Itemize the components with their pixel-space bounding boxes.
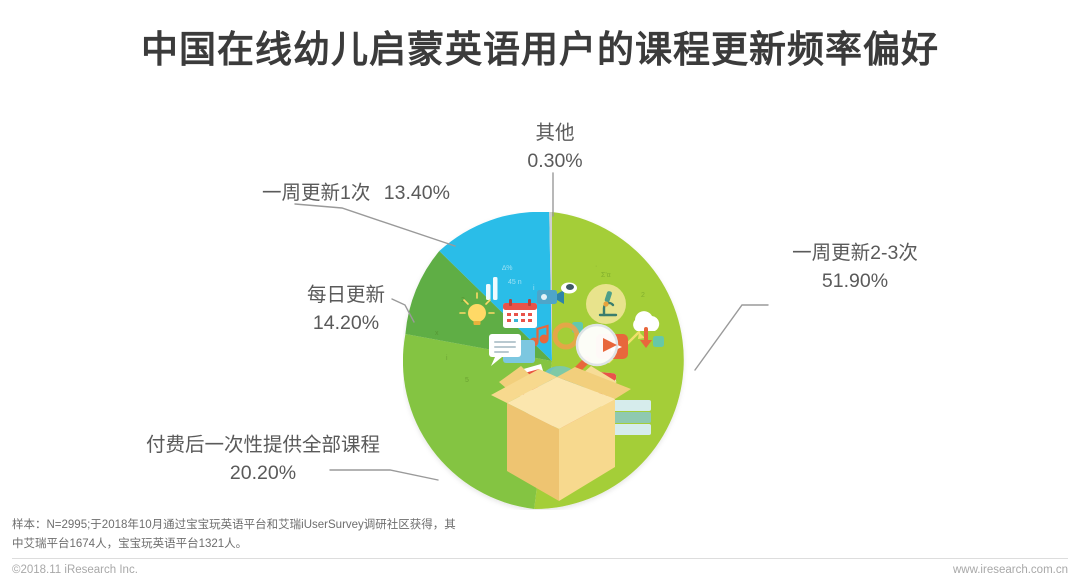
- footnote-line-1: 样本：N=2995;于2018年10月通过宝宝玩英语平台和艾瑞iUserSurv…: [12, 516, 612, 535]
- source-footnote: 样本：N=2995;于2018年10月通过宝宝玩英语平台和艾瑞iUserSurv…: [12, 516, 612, 553]
- leader-line-weekly23: [695, 305, 768, 370]
- callout-weekly1-value: 13.40%: [384, 182, 450, 204]
- callout-daily-value: 14.20%: [290, 310, 402, 338]
- callout-onetime: 付费后一次性提供全部课程 20.20%: [118, 432, 408, 487]
- callout-other-value: 0.30%: [500, 148, 610, 176]
- website-link[interactable]: www.iresearch.com.cn: [953, 564, 1068, 576]
- callout-other-category: 其他: [500, 120, 610, 148]
- title-bar: 中国在线幼儿启蒙英语用户的课程更新频率偏好: [0, 28, 1080, 72]
- callout-onetime-value: 20.20%: [118, 460, 408, 488]
- footer-divider: [12, 558, 1068, 559]
- footer-bar: ©2018.11 iResearch Inc. www.iresearch.co…: [12, 564, 1068, 576]
- pie-slice-weekly23[interactable]: [534, 212, 684, 509]
- page-title: 中国在线幼儿启蒙英语用户的课程更新频率偏好: [141, 28, 939, 72]
- callout-weekly23-value: 51.90%: [770, 268, 940, 296]
- callout-onetime-category: 付费后一次性提供全部课程: [118, 432, 408, 460]
- slide-canvas: 中国在线幼儿启蒙英语用户的课程更新频率偏好: [0, 0, 1080, 588]
- footnote-line-2: 中艾瑞平台1674人，宝宝玩英语平台1321人。: [12, 535, 612, 554]
- pie-slice-onetime[interactable]: [403, 334, 552, 509]
- pie-chart-svg: [403, 212, 701, 510]
- callout-weekly1-category: 一周更新1次: [262, 182, 370, 204]
- callout-weekly1: 一周更新1次 13.40%: [262, 180, 450, 208]
- callout-daily: 每日更新 14.20%: [290, 282, 402, 337]
- pie-chart: [403, 212, 701, 510]
- callout-weekly23: 一周更新2-3次 51.90%: [770, 240, 940, 295]
- callout-weekly23-category: 一周更新2-3次: [770, 240, 940, 268]
- callout-daily-category: 每日更新: [290, 282, 402, 310]
- callout-other: 其他 0.30%: [500, 120, 610, 175]
- copyright-text: ©2018.11 iResearch Inc.: [12, 564, 138, 576]
